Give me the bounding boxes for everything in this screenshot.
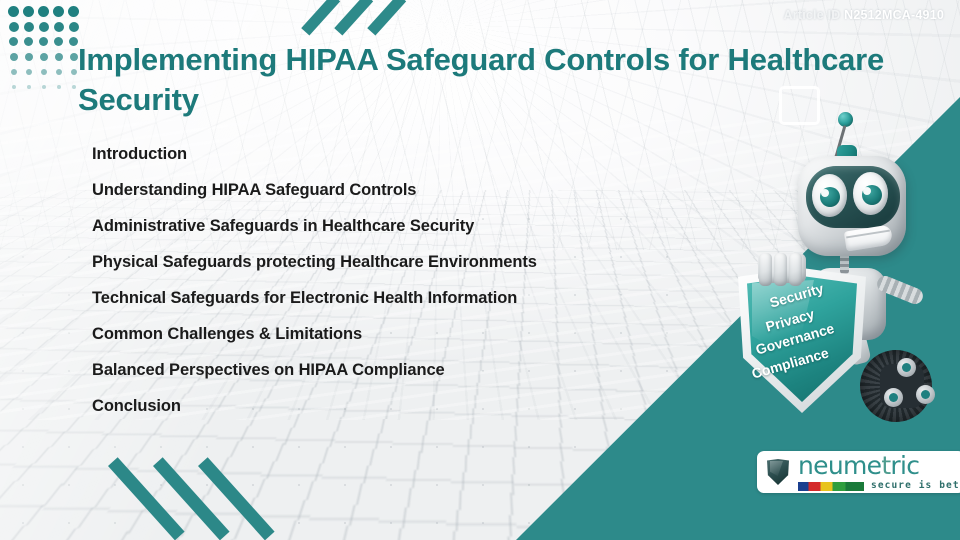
dot-row: [6, 64, 81, 79]
neumetric-logo[interactable]: neumetric secure is better: [757, 451, 960, 493]
brand-part-1: neume: [798, 451, 881, 480]
toc-item-administrative-safeguards[interactable]: Administrative Safeguards in Healthcare …: [92, 208, 692, 244]
shield-word-list: Security Privacy Governance Compliance: [738, 268, 866, 413]
toc-item-physical-safeguards[interactable]: Physical Safeguards protecting Healthcar…: [92, 244, 692, 280]
neumetric-shield-icon: [765, 457, 791, 487]
diagonal-stripes-bottom-left: [108, 466, 258, 540]
dot-row: [6, 4, 81, 19]
robot-hub-bolt: [916, 385, 935, 404]
security-shield-graphic: Security Privacy Governance Compliance: [738, 268, 866, 413]
neumetric-brand-name: neumetric: [798, 453, 960, 478]
dot-row: [6, 49, 81, 64]
toc-item-balanced-perspectives[interactable]: Balanced Perspectives on HIPAA Complianc…: [92, 352, 692, 388]
robot-finger: [759, 253, 772, 286]
dot-matrix-decoration: [6, 4, 81, 94]
neumetric-logo-bottom-row: secure is better: [798, 481, 960, 491]
diagonal-stripes-top: [332, 0, 442, 34]
dot-row: [6, 19, 81, 34]
toc-item-technical-safeguards[interactable]: Technical Safeguards for Electronic Heal…: [92, 280, 692, 316]
robot-eye-glint-right: [863, 187, 871, 195]
article-id: Article ID N2512MCA-4910: [784, 8, 944, 22]
robot-eye-glint-left: [821, 189, 829, 197]
robot-hub-bolt: [897, 358, 916, 377]
rainbow-bar-icon: [798, 482, 864, 491]
slide-canvas: Article ID N2512MCA-4910 Implementing HI…: [0, 0, 960, 540]
brand-part-3: ric: [890, 451, 919, 480]
robot-finger: [774, 253, 787, 286]
toc-item-understanding-hipaa-safeguard-controls[interactable]: Understanding HIPAA Safeguard Controls: [92, 172, 692, 208]
toc-item-common-challenges[interactable]: Common Challenges & Limitations: [92, 316, 692, 352]
table-of-contents: Introduction Understanding HIPAA Safegua…: [92, 136, 692, 424]
toc-item-introduction[interactable]: Introduction: [92, 136, 692, 172]
article-id-value: N2512MCA-4910: [844, 8, 944, 22]
robot-finger: [789, 253, 802, 286]
page-title: Implementing HIPAA Safeguard Controls fo…: [78, 40, 923, 121]
robot-hub-bolt: [884, 388, 903, 407]
toc-item-conclusion[interactable]: Conclusion: [92, 388, 692, 424]
dot-row: [6, 34, 81, 49]
neumetric-logo-text: neumetric secure is better: [798, 453, 960, 491]
article-id-label: Article ID: [784, 8, 841, 22]
dot-row: [6, 79, 81, 94]
neumetric-tagline: secure is better: [871, 481, 960, 491]
